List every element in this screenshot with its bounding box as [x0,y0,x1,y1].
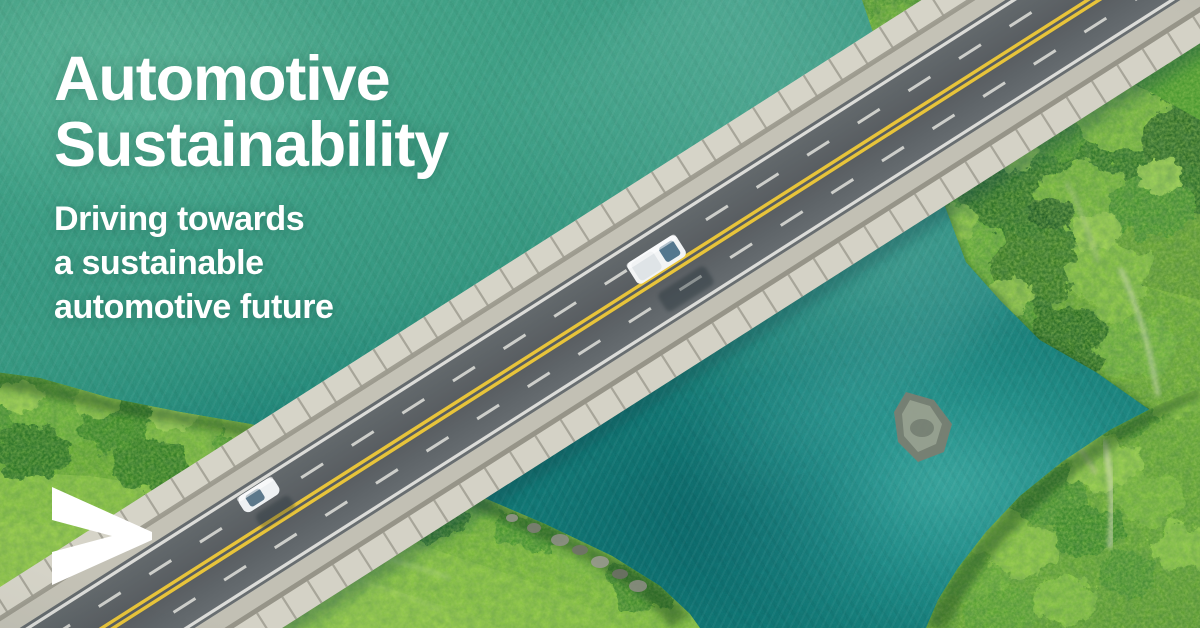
accenture-chevron-logo[interactable] [50,485,154,587]
banner-canvas: Automotive Sustainability Driving toward… [0,0,1200,628]
headline-block: Automotive Sustainability Driving toward… [54,46,694,329]
chevron-right-icon [50,485,154,587]
page-subtitle: Driving towards a sustainable automotive… [54,197,694,330]
page-title: Automotive Sustainability [54,46,694,179]
